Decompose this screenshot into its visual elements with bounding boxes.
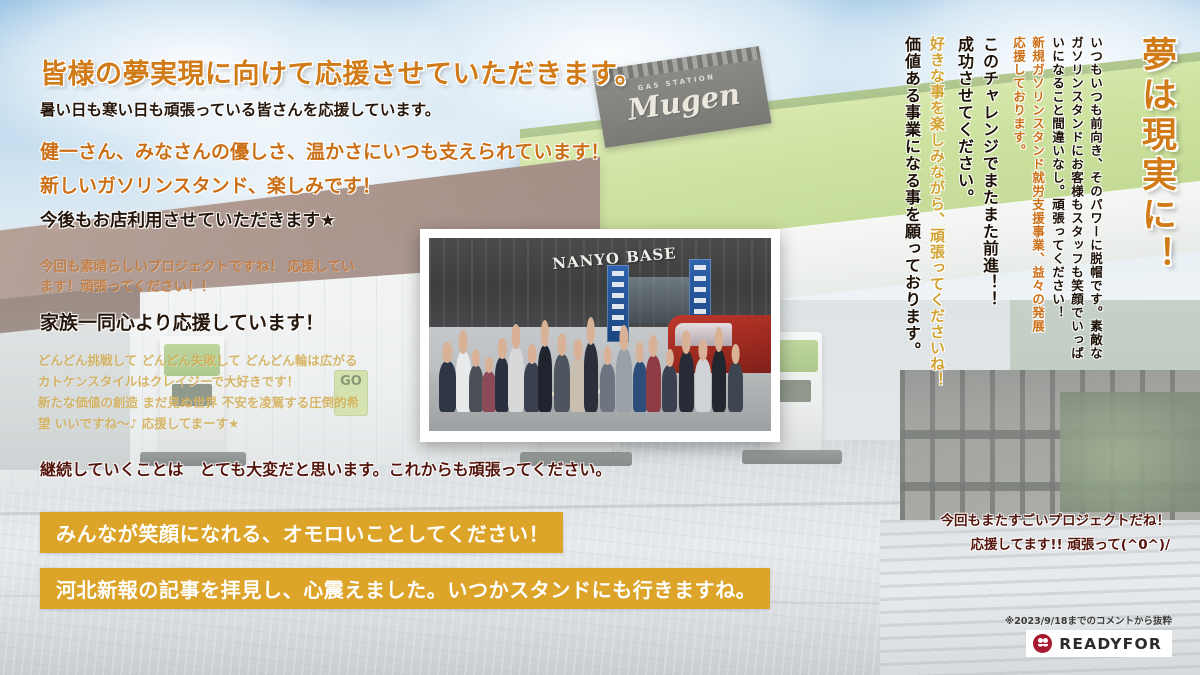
comment-line: 継続していくことは とても大変だと思います。これからも頑張ってください。 [40, 456, 611, 480]
vertical-comment: 新規ガソリンスタンド就労支援事業、益々の発展 [1028, 36, 1047, 333]
highlight-box: 河北新報の記事を拝見し、心震えました。いつかスタンドにも行きますね。 [40, 568, 770, 609]
comment-line: 今回も素晴らしいプロジェクトですね！ 応援してい [40, 255, 355, 275]
comment-line: どんどん挑戦して どんどん失敗して どんどん輪は広がる [38, 350, 357, 369]
photo-crowd [436, 296, 764, 412]
vertical-comment: 応援しております。 [1009, 36, 1028, 158]
comment-line: 健一さん、みなさんの優しさ、温かさにいつも支えられています！ [40, 137, 609, 164]
comment-line: カトケンスタイルはクレイジーで大好きです！ [38, 371, 299, 390]
comment-line: ます！頑張ってください！！ [40, 275, 214, 295]
vertical-comment: ガソリンスタンドにお客様もスタッフも笑顔でいっぱ [1067, 36, 1086, 360]
vertical-comment: 価値ある事業になる事を願っております。 [899, 36, 923, 359]
vertical-comment: 好きな事を楽しみながら、頑張ってくださいね！ [927, 36, 948, 388]
comment-line: 今後もお店利用させていただきます★ [40, 207, 336, 232]
comment-line: 暑い日も寒い日も頑張っている皆さんを応援しています。 [40, 98, 440, 120]
comment-line: 望 いいですね〜♪ 応援してまーす★ [38, 413, 240, 432]
readyfor-mark-icon [1033, 634, 1052, 653]
readyfor-logo: READYFOR [1026, 630, 1172, 657]
vertical-comment: いになること間違いなし。頑張ってください！ [1048, 36, 1067, 320]
group-photo-card: NANYO BASE [420, 229, 780, 442]
highlight-box: みんなが笑顔になれる、オモロいことしてください！ [40, 512, 563, 553]
comment-line: 家族一同心より応援しています！ [40, 308, 324, 335]
bottom-right-comment-line: 応援してます!! 頑張って(^0^)/ [970, 533, 1170, 553]
vertical-comment: このチャレンジでまたまた前進！！ [977, 36, 1001, 308]
footnote: ※2023/9/18までのコメントから抜粋 [1005, 613, 1172, 627]
comment-line: 新たな価値の創造 まだ見ぬ世界 不安を凌駕する圧倒的希 [38, 392, 359, 411]
comment-line: 新しいガソリンスタンド、楽しみです！ [40, 171, 381, 198]
vertical-comment: いつもいつも前向き、そのパワーに脱帽です。素敵な [1086, 36, 1105, 360]
vertical-headline: 夢は現実に！ [1131, 36, 1182, 276]
vertical-comment: 成功させてください。 [952, 36, 976, 206]
bottom-right-comment-line: 今回もまたすごいプロジェクトだね！ [941, 509, 1171, 529]
readyfor-wordmark: READYFOR [1059, 635, 1162, 653]
page-title: 皆様の夢実現に向けて応援させていただきます。 [40, 52, 740, 91]
group-photo: NANYO BASE [429, 238, 771, 431]
